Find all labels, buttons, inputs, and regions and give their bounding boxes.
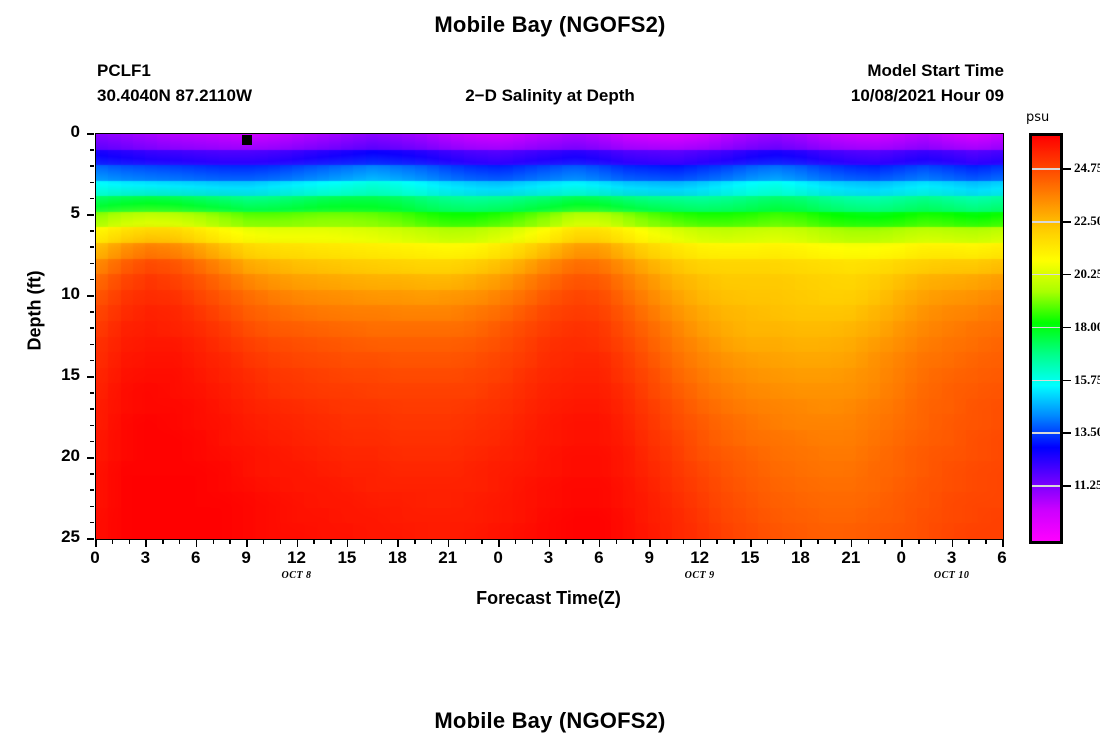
x-axis-date-label: OCT 9 <box>665 570 735 581</box>
y-axis-tick-label: 0 <box>35 122 80 142</box>
colorbar-inner-tick <box>1032 168 1060 170</box>
colorbar-unit-label: psu <box>1026 110 1049 125</box>
y-axis-minor-tick <box>90 425 94 427</box>
y-axis-minor-tick <box>90 327 94 329</box>
y-axis-tick <box>87 295 94 297</box>
x-axis-minor-tick <box>515 540 517 544</box>
x-axis-minor-tick <box>263 540 265 544</box>
y-axis-minor-tick <box>90 392 94 394</box>
x-axis-tick <box>851 540 853 547</box>
x-axis-date-label: OCT 8 <box>262 570 332 581</box>
x-axis-tick-label: 12 <box>277 548 317 568</box>
colorbar-tick <box>1063 432 1071 434</box>
model-start-value: 10/08/2021 Hour 09 <box>851 83 1004 108</box>
y-axis-tick-label: 20 <box>35 446 80 466</box>
x-axis-tick <box>95 540 97 547</box>
y-axis-minor-tick <box>90 344 94 346</box>
x-axis-tick-label: 3 <box>932 548 972 568</box>
colorbar[interactable] <box>1029 133 1063 544</box>
colorbar-inner-tick <box>1032 327 1060 329</box>
x-axis-minor-tick <box>935 540 937 544</box>
x-axis-minor-tick <box>666 540 668 544</box>
x-axis-minor-tick <box>968 540 970 544</box>
colorbar-tick <box>1063 168 1071 170</box>
x-axis-minor-tick <box>616 540 618 544</box>
x-axis-minor-tick <box>784 540 786 544</box>
y-axis-minor-tick <box>90 489 94 491</box>
colorbar-inner-tick <box>1032 432 1060 434</box>
x-axis-minor-tick <box>313 540 315 544</box>
y-axis-minor-tick <box>90 182 94 184</box>
colorbar-tick-label: 24.750 <box>1074 160 1100 176</box>
model-start-marker <box>242 135 252 145</box>
colorbar-tick-label: 18.000 <box>1074 319 1100 335</box>
x-axis-tick <box>599 540 601 547</box>
x-axis-minor-tick <box>213 540 215 544</box>
colorbar-tick <box>1063 221 1071 223</box>
salinity-heatmap-plot[interactable] <box>95 133 1004 540</box>
x-axis-tick-label: 6 <box>176 548 216 568</box>
x-axis-minor-tick <box>229 540 231 544</box>
y-axis-minor-tick <box>90 506 94 508</box>
y-axis-minor-tick <box>90 522 94 524</box>
page-title-top: Mobile Bay (NGOFS2) <box>0 12 1100 38</box>
colorbar-tick-label: 22.500 <box>1074 213 1100 229</box>
colorbar-tick <box>1063 327 1071 329</box>
y-axis-tick <box>87 376 94 378</box>
y-axis-minor-tick <box>90 263 94 265</box>
x-axis-tick <box>549 540 551 547</box>
x-axis-minor-tick <box>330 540 332 544</box>
y-axis-minor-tick <box>90 311 94 313</box>
x-axis-tick <box>700 540 702 547</box>
y-axis-minor-tick <box>90 198 94 200</box>
colorbar-tick <box>1063 485 1071 487</box>
x-axis-tick <box>649 540 651 547</box>
x-axis-tick <box>952 540 954 547</box>
y-axis-title: Depth (ft) <box>25 251 46 371</box>
colorbar-gradient <box>1032 136 1060 541</box>
colorbar-tick-label: 15.750 <box>1074 372 1100 388</box>
x-axis-tick <box>448 540 450 547</box>
x-axis-minor-tick <box>582 540 584 544</box>
x-axis-tick-label: 9 <box>629 548 669 568</box>
model-start-label: Model Start Time <box>851 58 1004 83</box>
x-axis-tick <box>1002 540 1004 547</box>
x-axis-minor-tick <box>465 540 467 544</box>
x-axis-tick-label: 3 <box>529 548 569 568</box>
station-id: PCLF1 <box>97 58 252 83</box>
colorbar-inner-tick <box>1032 485 1060 487</box>
x-axis-minor-tick <box>364 540 366 544</box>
x-axis-tick-label: 9 <box>226 548 266 568</box>
y-axis-tick <box>87 133 94 135</box>
x-axis-tick <box>145 540 147 547</box>
x-axis-minor-tick <box>179 540 181 544</box>
x-axis-tick-label: 6 <box>982 548 1022 568</box>
y-axis-minor-tick <box>90 279 94 281</box>
x-axis-tick <box>800 540 802 547</box>
y-axis-tick-label: 25 <box>35 527 80 547</box>
x-axis-minor-tick <box>162 540 164 544</box>
x-axis-minor-tick <box>280 540 282 544</box>
y-axis-minor-tick <box>90 230 94 232</box>
colorbar-tick-label: 11.250 <box>1074 477 1100 493</box>
y-axis-minor-tick <box>90 246 94 248</box>
y-axis-tick <box>87 214 94 216</box>
x-axis-tick <box>297 540 299 547</box>
x-axis-minor-tick <box>985 540 987 544</box>
y-axis-tick <box>87 457 94 459</box>
x-axis-tick-label: 3 <box>125 548 165 568</box>
x-axis-minor-tick <box>632 540 634 544</box>
x-axis-minor-tick <box>884 540 886 544</box>
x-axis-tick-label: 0 <box>881 548 921 568</box>
y-axis-tick <box>87 538 94 540</box>
x-axis-minor-tick <box>532 540 534 544</box>
x-axis-tick <box>196 540 198 547</box>
x-axis-title: Forecast Time(Z) <box>95 588 1002 609</box>
x-axis-minor-tick <box>129 540 131 544</box>
x-axis-tick <box>750 540 752 547</box>
x-axis-minor-tick <box>683 540 685 544</box>
x-axis-minor-tick <box>733 540 735 544</box>
colorbar-inner-tick <box>1032 274 1060 276</box>
colorbar-tick <box>1063 380 1071 382</box>
x-axis-tick-label: 0 <box>75 548 115 568</box>
y-axis-minor-tick <box>90 149 94 151</box>
x-axis-minor-tick <box>565 540 567 544</box>
x-axis-minor-tick <box>112 540 114 544</box>
x-axis-minor-tick <box>414 540 416 544</box>
x-axis-minor-tick <box>716 540 718 544</box>
colorbar-tick <box>1063 274 1071 276</box>
x-axis-tick-label: 12 <box>680 548 720 568</box>
page-title-bottom: Mobile Bay (NGOFS2) <box>0 708 1100 734</box>
x-axis-tick <box>347 540 349 547</box>
colorbar-tick-label: 20.250 <box>1074 266 1100 282</box>
x-axis-tick <box>246 540 248 547</box>
x-axis-tick-label: 21 <box>428 548 468 568</box>
y-axis-minor-tick <box>90 360 94 362</box>
y-axis-minor-tick <box>90 165 94 167</box>
x-axis-minor-tick <box>918 540 920 544</box>
x-axis-minor-tick <box>834 540 836 544</box>
x-axis-tick <box>397 540 399 547</box>
x-axis-minor-tick <box>767 540 769 544</box>
x-axis-minor-tick <box>817 540 819 544</box>
heatmap-canvas <box>96 134 1003 539</box>
y-axis-minor-tick <box>90 441 94 443</box>
colorbar-tick-label: 13.500 <box>1074 424 1100 440</box>
x-axis-tick-label: 18 <box>377 548 417 568</box>
x-axis-minor-tick <box>868 540 870 544</box>
colorbar-inner-tick <box>1032 380 1060 382</box>
model-start-time: Model Start Time 10/08/2021 Hour 09 <box>851 58 1004 108</box>
y-axis-minor-tick <box>90 408 94 410</box>
x-axis-tick-label: 21 <box>831 548 871 568</box>
x-axis-tick-label: 0 <box>478 548 518 568</box>
x-axis-tick-label: 18 <box>780 548 820 568</box>
colorbar-inner-tick <box>1032 221 1060 223</box>
x-axis-tick-label: 15 <box>327 548 367 568</box>
y-axis-tick-label: 5 <box>35 203 80 223</box>
x-axis-minor-tick <box>381 540 383 544</box>
x-axis-tick <box>901 540 903 547</box>
x-axis-tick-label: 15 <box>730 548 770 568</box>
x-axis-tick-label: 6 <box>579 548 619 568</box>
y-axis-minor-tick <box>90 473 94 475</box>
x-axis-minor-tick <box>431 540 433 544</box>
x-axis-date-label: OCT 10 <box>917 570 987 581</box>
x-axis-tick <box>498 540 500 547</box>
x-axis-minor-tick <box>481 540 483 544</box>
